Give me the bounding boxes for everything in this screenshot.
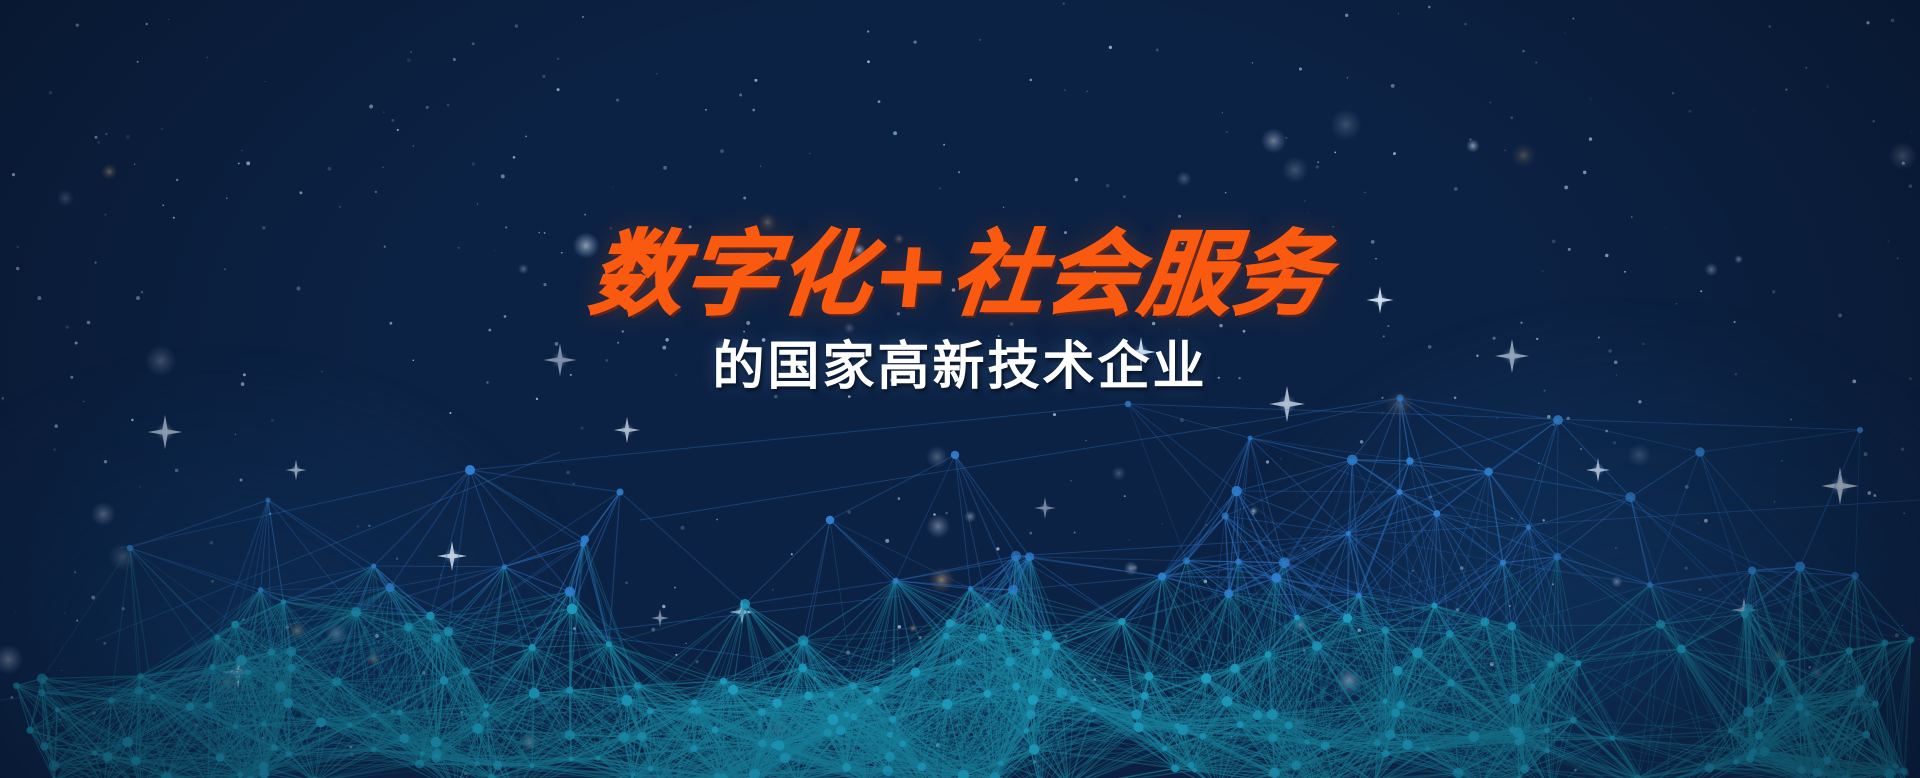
hero-banner: 数字化+社会服务 的国家高新技术企业 bbox=[0, 0, 1920, 778]
polygon-network-mesh bbox=[0, 0, 1920, 778]
